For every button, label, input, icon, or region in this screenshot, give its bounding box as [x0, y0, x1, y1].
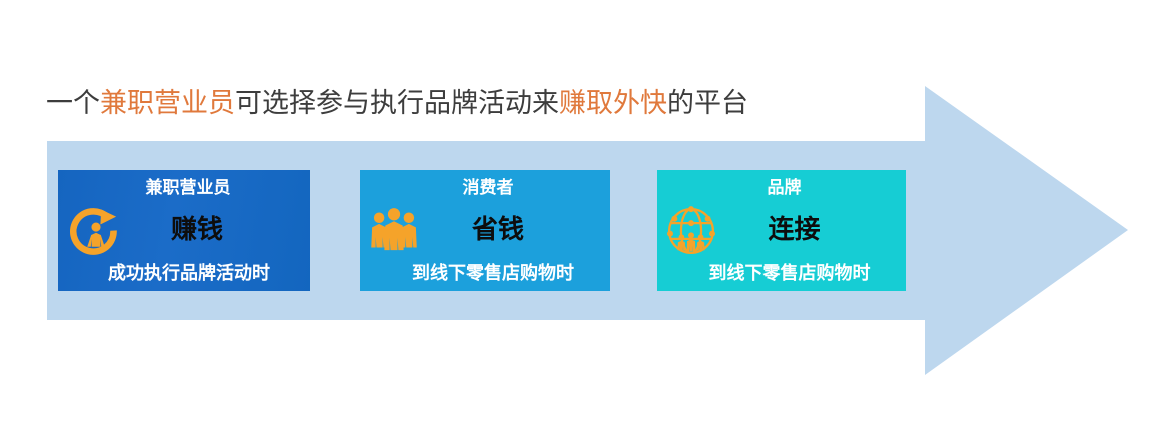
card-title: 品牌 [657, 178, 906, 198]
slide-canvas: 一个兼职营业员可选择参与执行品牌活动来赚取外快的平台 兼职营业员 赚钱 成功执行… [0, 0, 1150, 430]
page-title: 一个兼职营业员可选择参与执行品牌活动来赚取外快的平台 [46, 86, 748, 120]
card-main-label: 赚钱 [58, 214, 310, 246]
headline-segment-5: 的平台 [667, 88, 748, 118]
headline-segment-3: 可选择参与执行品牌活动来 [235, 88, 559, 118]
card-footer-label: 到线下零售店购物时 [657, 262, 906, 284]
headline-segment-1: 一个 [46, 88, 100, 118]
headline-segment-2-accent: 兼职营业员 [100, 88, 235, 118]
card-consumer[interactable]: 消费者 省钱 到线下零售店购物时 [360, 170, 610, 291]
card-part-time-clerk[interactable]: 兼职营业员 赚钱 成功执行品牌活动时 [58, 170, 310, 291]
card-title: 兼职营业员 [58, 178, 310, 198]
card-main-label: 省钱 [360, 214, 610, 246]
card-brand[interactable]: 品牌 [657, 170, 906, 291]
card-title: 消费者 [360, 178, 610, 198]
card-footer-label: 成功执行品牌活动时 [58, 262, 310, 284]
card-footer-label: 到线下零售店购物时 [360, 262, 610, 284]
card-main-label: 连接 [657, 214, 906, 246]
headline-segment-4-accent: 赚取外快 [559, 88, 667, 118]
